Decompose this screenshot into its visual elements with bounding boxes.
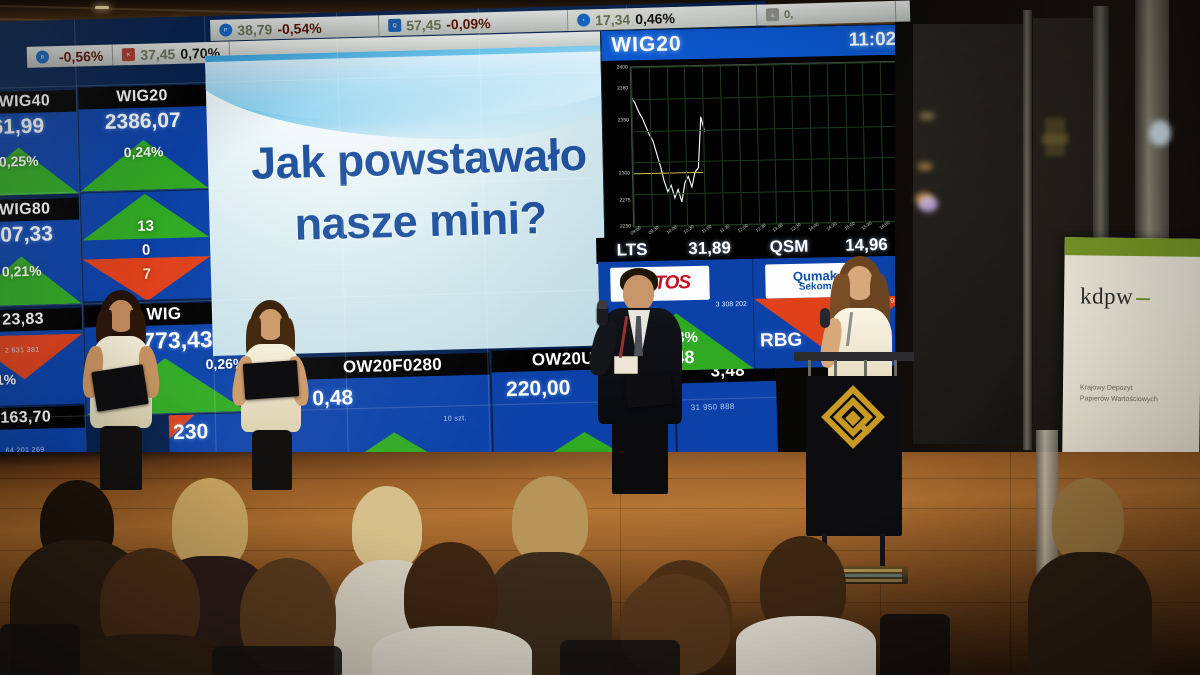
ticker-price: 57,45 bbox=[406, 16, 441, 33]
chart-y-tick: 2275 bbox=[619, 197, 630, 203]
lotos-volume: 3 308 202 bbox=[716, 301, 747, 309]
derivative-symbol: OW20F0280 bbox=[295, 353, 490, 380]
slide-title-line2: nasze mini? bbox=[209, 185, 633, 258]
chart-x-tick: 09:00 bbox=[630, 225, 642, 236]
legs bbox=[252, 430, 292, 490]
chart-y-tick: 2250 bbox=[620, 223, 631, 229]
seat-back bbox=[880, 614, 950, 675]
chart-line-path bbox=[631, 62, 901, 227]
ticker-item: B -0,56% bbox=[27, 45, 114, 68]
qsm-quote: QSM 14,96 bbox=[751, 235, 906, 258]
chart-y-tick: 2350 bbox=[618, 117, 629, 123]
lts-quote: LTS 31,89 bbox=[596, 238, 751, 261]
bank-icon: B bbox=[36, 50, 49, 63]
ticker-item-partial: ◬ 0, bbox=[757, 1, 897, 26]
presenter-speaker-man bbox=[592, 268, 688, 494]
quote-name: sWIG80 bbox=[0, 198, 79, 223]
presenter-hostess-center bbox=[234, 300, 308, 490]
derivative-volume: 10 szt. bbox=[443, 415, 467, 423]
ticker-change: -0,54% bbox=[277, 19, 322, 36]
quote-cell-wig20: WIG20 2386,07 0,24% bbox=[78, 84, 209, 191]
ticker-change: 0,46% bbox=[635, 10, 675, 27]
derivative-price: 0,48 bbox=[296, 382, 493, 412]
quote-cell-swig80: sWIG80 607,33 0,21% bbox=[0, 198, 82, 307]
ticker-price: 38,79 bbox=[237, 21, 272, 38]
head bbox=[846, 266, 873, 300]
legs bbox=[100, 426, 142, 490]
advancing-count: 13 bbox=[81, 216, 209, 236]
breadth-panel: 13 0 7 bbox=[81, 190, 212, 301]
audience-shoulders bbox=[1028, 552, 1152, 675]
presenter-hostess-left bbox=[82, 290, 160, 490]
slide-title-line1: Jak powstawało bbox=[207, 123, 631, 196]
presenter-folder bbox=[91, 364, 149, 412]
rbg-symbol-label: RBG bbox=[760, 330, 803, 353]
head bbox=[623, 275, 654, 311]
window-light-glow bbox=[1149, 120, 1171, 146]
quote-cell-left-1: 23,83 2 631 381 -0,71% bbox=[0, 308, 84, 407]
declining-count: 7 bbox=[83, 264, 211, 284]
seat-back bbox=[560, 640, 680, 675]
quote-change: -0,71% bbox=[0, 369, 84, 388]
kdpw-logo-text: kdpw bbox=[1080, 283, 1133, 309]
pko-icon: P bbox=[219, 23, 232, 36]
quote-price: 607,33 bbox=[0, 222, 80, 249]
monitor-header: WIG20 11:02 bbox=[601, 25, 907, 61]
audience-head bbox=[1052, 478, 1124, 562]
podium-leg bbox=[880, 534, 885, 568]
kdpw-green-bar bbox=[1065, 237, 1200, 257]
slide-title: Jak powstawało nasze mini? bbox=[207, 123, 632, 259]
lanyard-badge bbox=[614, 356, 638, 374]
presenter-folder bbox=[625, 374, 674, 409]
seat-back bbox=[212, 646, 342, 675]
ceiling-spot-glow bbox=[919, 112, 935, 120]
wig20-price-chart: 24002380235023002275225009:0009:3010:001… bbox=[630, 61, 902, 228]
quote-volume: 31 950 888 bbox=[691, 402, 735, 412]
lts-value: 31,89 bbox=[688, 238, 731, 259]
gpw-logo-icon bbox=[820, 384, 886, 450]
kdpw-subtitle-line1: Krajowy Depozyt bbox=[1080, 383, 1158, 395]
ticker-price: 37,45 bbox=[140, 45, 175, 62]
ticker-change: -0,09% bbox=[446, 15, 491, 32]
microphone-icon bbox=[820, 308, 830, 328]
kdpw-subtitle: Krajowy Depozyt Papierów Wartościowych bbox=[1080, 383, 1158, 406]
ceiling-lamp-icon bbox=[95, 6, 109, 9]
chart-y-tick: 2380 bbox=[617, 86, 628, 92]
presenter-folder bbox=[243, 360, 299, 400]
ceiling-spot-glow bbox=[918, 196, 938, 212]
kdpw-subtitle-line2: Papierów Wartościowych bbox=[1080, 394, 1158, 406]
monitor-title: WIG20 bbox=[611, 32, 682, 57]
quote-price: 61,99 bbox=[0, 114, 77, 141]
quote-cell-mwig40: mWIG40 61,99 0,25% bbox=[0, 90, 79, 197]
unchanged-count: 0 bbox=[82, 240, 210, 260]
kghm-icon: K bbox=[122, 48, 135, 61]
lts-symbol: LTS bbox=[616, 240, 647, 261]
kdpw-logo-dash bbox=[1136, 298, 1150, 300]
chart-y-tick: 2400 bbox=[617, 64, 628, 70]
quote-change: 0,21% bbox=[0, 262, 81, 281]
ticker-price-partial: 0, bbox=[784, 8, 794, 20]
audience-shoulders bbox=[736, 616, 876, 675]
audience-shoulders bbox=[372, 626, 532, 675]
quote-price-header: 23,83 bbox=[0, 308, 82, 333]
quote-change: 0,25% bbox=[0, 152, 78, 171]
audience-head bbox=[512, 476, 588, 564]
qumak-icon: Q bbox=[388, 19, 401, 32]
audience-head bbox=[352, 486, 422, 570]
quote-name: WIG20 bbox=[78, 84, 207, 109]
qsm-value: 14,96 bbox=[845, 235, 888, 256]
glass-wall-panel bbox=[913, 24, 1029, 444]
qsm-symbol: QSM bbox=[769, 237, 808, 258]
quote-change: 0,24% bbox=[79, 142, 207, 161]
monitor-clock: 11:02 bbox=[849, 29, 897, 52]
microphone-head bbox=[597, 300, 608, 309]
photo-scene: B -0,56% K 37,45 0,70% mWIG40 61,99 0,25… bbox=[0, 0, 1200, 675]
kdpw-logo: kdpw bbox=[1080, 283, 1150, 310]
wig20-chart-monitor: WIG20 11:02 24002380235023002275225009:0… bbox=[600, 24, 912, 257]
legs bbox=[612, 420, 668, 494]
mitsubishi-icon: ◬ bbox=[766, 8, 779, 21]
ceiling-spot-glow bbox=[917, 162, 933, 171]
quote-volume: 2 631 381 bbox=[5, 347, 40, 355]
quote-name: mWIG40 bbox=[0, 90, 76, 115]
pzu-icon: • bbox=[577, 13, 590, 26]
chart-y-tick: 2300 bbox=[619, 170, 630, 176]
quote-price: 2386,07 bbox=[78, 108, 207, 135]
quote-price-header: 163,70 bbox=[0, 405, 85, 430]
seat-back bbox=[0, 624, 80, 675]
ticker-price: 17,34 bbox=[595, 11, 630, 28]
reflected-sign bbox=[1041, 134, 1069, 144]
ticker-change: -0,56% bbox=[59, 47, 104, 64]
structural-pillar bbox=[1023, 10, 1032, 450]
